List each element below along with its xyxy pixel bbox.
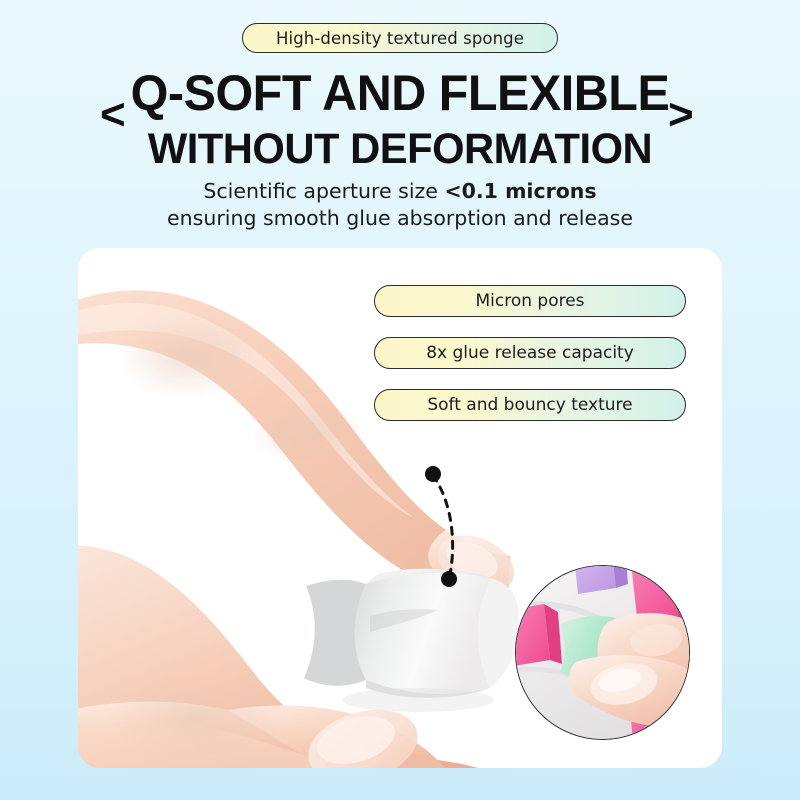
subtitle-line-1: Scientific aperture size <0.1 microns (0, 178, 800, 205)
curve-marker (418, 460, 474, 594)
dashed-arc-icon (418, 460, 474, 594)
chevron-left-icon: < (100, 93, 126, 137)
feature-pill-label: Micron pores (475, 291, 584, 311)
top-badge-label: High-density textured sponge (276, 29, 524, 48)
feature-pill-micron-pores: Micron pores (374, 285, 686, 317)
product-feature-page: High-density textured sponge Q-SOFT AND … (0, 0, 800, 800)
feature-pill-label: 8x glue release capacity (426, 343, 634, 363)
feature-pill-label: Soft and bouncy texture (427, 395, 632, 415)
chevron-right-icon: > (668, 93, 694, 137)
feature-pill-soft-bouncy: Soft and bouncy texture (374, 389, 686, 421)
feature-pill-glue-release: 8x glue release capacity (374, 337, 686, 369)
top-badge: High-density textured sponge (242, 23, 558, 53)
subtitle: Scientific aperture size <0.1 microns en… (0, 178, 800, 232)
inset-circle-photo (515, 565, 690, 740)
subtitle-prefix: Scientific aperture size (203, 179, 444, 203)
subtitle-line-2: ensuring smooth glue absorption and rele… (0, 205, 800, 232)
subtitle-emphasis: <0.1 microns (444, 179, 596, 203)
fingertip-pressing-sponge-illustration (516, 566, 690, 740)
